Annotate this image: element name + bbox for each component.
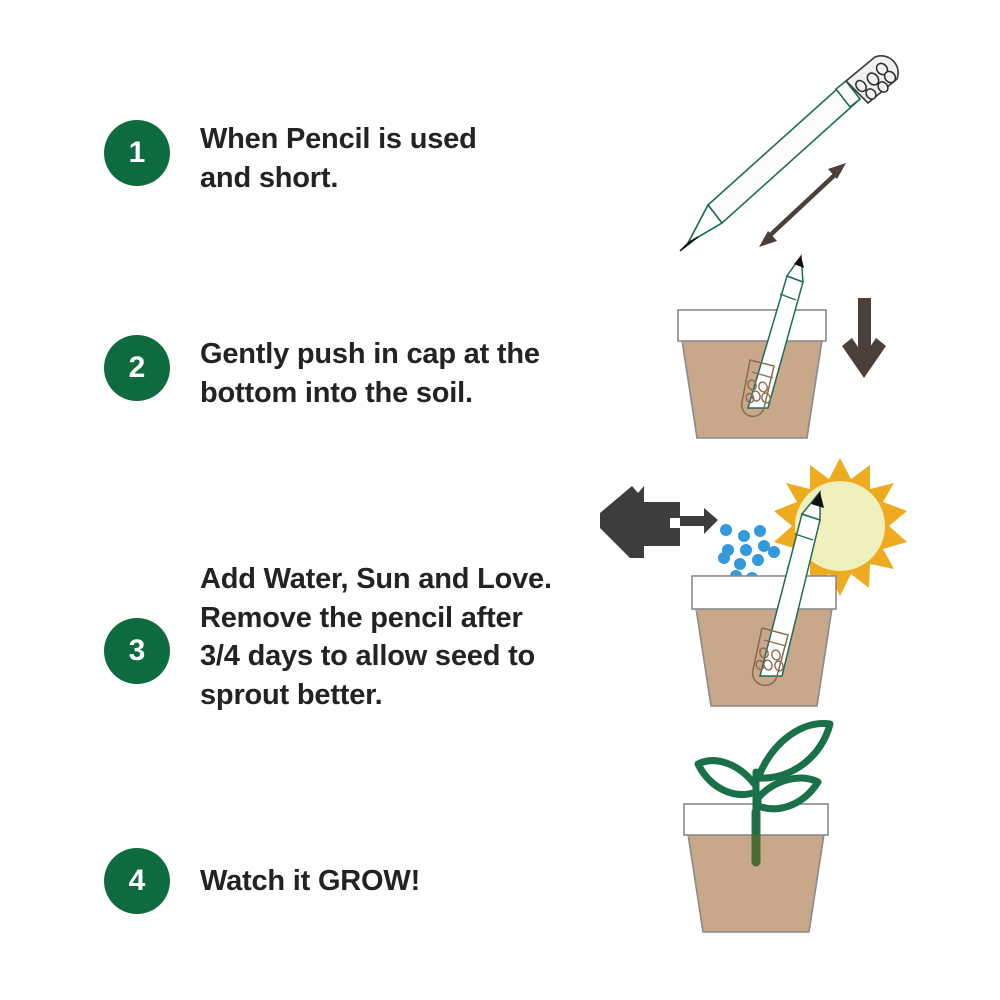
pencil-barrel <box>708 81 860 223</box>
water-drop <box>758 540 770 552</box>
pot-rim <box>692 576 836 609</box>
plant-leaf <box>698 761 756 795</box>
step-3-line-1: Add Water, Sun and Love. <box>200 560 600 599</box>
step-4-illustration <box>672 712 932 942</box>
pencil-icon <box>680 56 898 251</box>
step-3-line-2: Remove the pencil after <box>200 599 600 638</box>
step-3-line-4: sprout better. <box>200 676 600 715</box>
down-arrow-icon <box>842 298 886 378</box>
step-2-text: Gently push in cap at the bottom into th… <box>200 335 600 412</box>
step-4-text: Watch it GROW! <box>200 862 600 901</box>
step-2-line-2: bottom into the soil. <box>200 374 600 413</box>
instruction-infographic: 1 When Pencil is used and short. <box>0 0 1000 1000</box>
step-2-line-1: Gently push in cap at the <box>200 335 600 374</box>
water-drop <box>754 525 766 537</box>
step-3-line-3: 3/4 days to allow seed to <box>200 637 600 676</box>
step-3-number-badge: 3 <box>104 618 170 684</box>
water-drop <box>752 554 764 566</box>
step-1-line-2: and short. <box>200 159 600 198</box>
step-3-illustration <box>592 458 912 720</box>
water-drop <box>740 544 752 556</box>
pot-body <box>682 340 822 438</box>
step-3-text: Add Water, Sun and Love. Remove the penc… <box>200 560 600 714</box>
water-drop <box>720 524 732 536</box>
water-drop <box>768 546 780 558</box>
step-1-number-badge: 1 <box>104 120 170 186</box>
step-1-text: When Pencil is used and short. <box>200 120 600 197</box>
plant-pot-icon <box>678 310 826 438</box>
pot-rim <box>678 310 826 341</box>
step-4-number-badge: 4 <box>104 848 170 914</box>
step-2-number-badge: 2 <box>104 335 170 401</box>
water-drop <box>738 530 750 542</box>
watering-can-icon <box>600 486 718 558</box>
step-4-line-1: Watch it GROW! <box>200 862 600 901</box>
pot-body <box>696 608 832 706</box>
plant-leaf <box>758 724 830 779</box>
water-drop <box>734 558 746 570</box>
plant-pot-icon <box>692 576 836 706</box>
water-drop <box>718 552 730 564</box>
step-2-illustration <box>670 248 930 453</box>
step-1-line-1: When Pencil is used <box>200 120 600 159</box>
step-1-illustration <box>660 55 940 270</box>
